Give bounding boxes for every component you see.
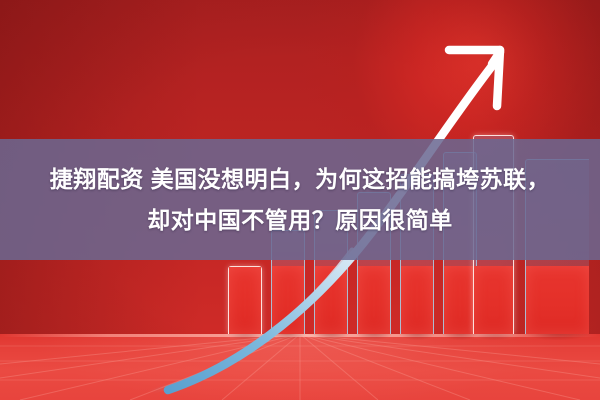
headline-line-2: 却对中国不管用？原因很简单 [12,200,588,241]
banner-image: 捷翔配资 美国没想明白，为何这招能搞垮苏联， 却对中国不管用？原因很简单 [0,0,600,400]
headline-line-1: 捷翔配资 美国没想明白，为何这招能搞垮苏联， [12,159,588,200]
headline-band: 捷翔配资 美国没想明白，为何这招能搞垮苏联， 却对中国不管用？原因很简单 [0,139,600,260]
arrow-tail [150,250,352,392]
page-title: 捷翔配资 美国没想明白，为何这招能搞垮苏联， 却对中国不管用？原因很简单 [0,159,600,241]
